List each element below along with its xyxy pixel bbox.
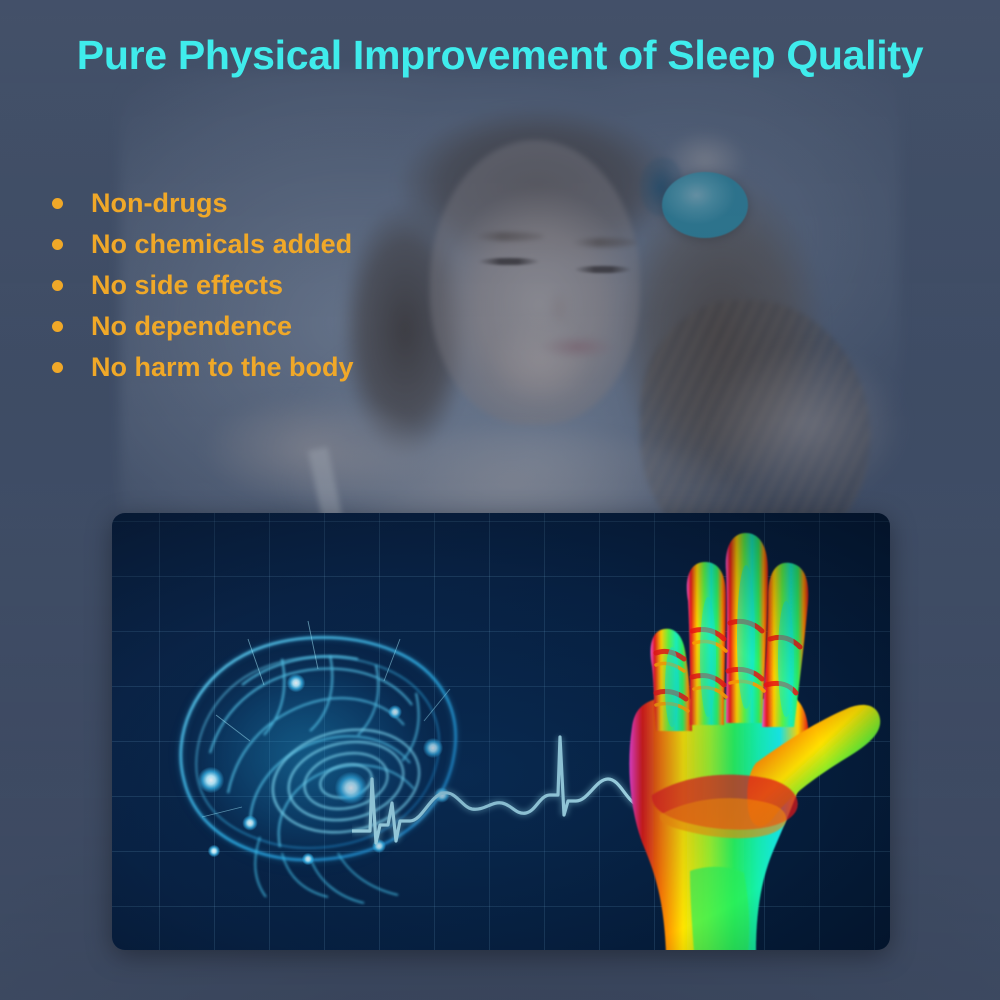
tech-illustration-panel: [112, 513, 890, 950]
benefit-label: Non-drugs: [91, 188, 227, 219]
panel-vignette: [112, 513, 890, 950]
benefit-label: No side effects: [91, 270, 283, 301]
list-item: No side effects: [52, 265, 522, 306]
poster-root: Pure Physical Improvement of Sleep Quali…: [0, 0, 1000, 1000]
bullet-dot-icon: [52, 280, 63, 291]
page-title: Pure Physical Improvement of Sleep Quali…: [0, 32, 1000, 79]
bullet-dot-icon: [52, 321, 63, 332]
list-item: Non-drugs: [52, 183, 522, 224]
benefits-list: Non-drugs No chemicals added No side eff…: [52, 183, 522, 388]
bullet-dot-icon: [52, 198, 63, 209]
list-item: No chemicals added: [52, 224, 522, 265]
bullet-dot-icon: [52, 239, 63, 250]
list-item: No dependence: [52, 306, 522, 347]
bullet-dot-icon: [52, 362, 63, 373]
list-item: No harm to the body: [52, 347, 522, 388]
benefit-label: No chemicals added: [91, 229, 352, 260]
benefit-label: No harm to the body: [91, 352, 354, 383]
benefit-label: No dependence: [91, 311, 292, 342]
